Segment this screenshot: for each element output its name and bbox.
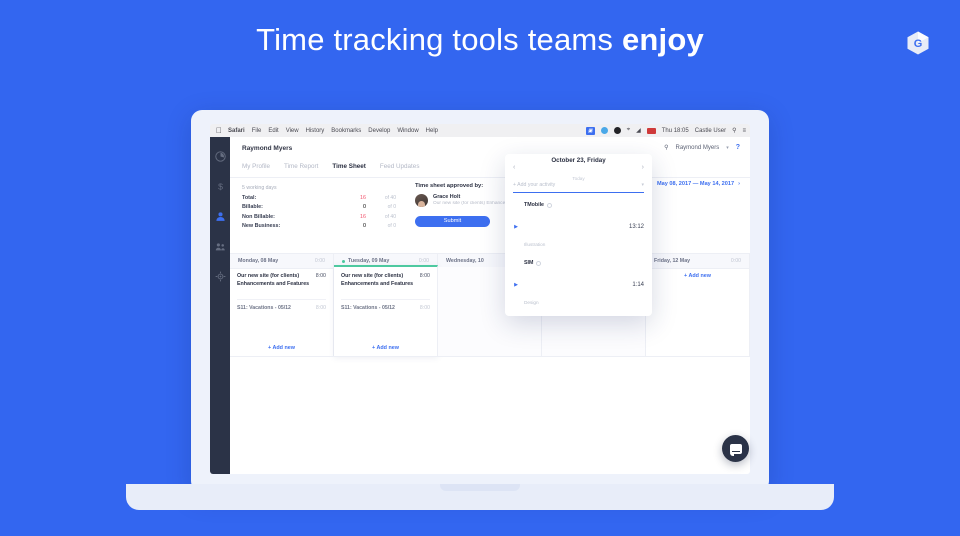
app-window: $ Raymond Myers ⚲ Raymond M: [210, 137, 750, 474]
entry2-hours: 8:00: [420, 305, 430, 311]
entry-title: Our new site (for clients) Enhancements …: [237, 273, 312, 289]
active-day-dot-icon: [342, 260, 345, 263]
summary-of-total: of 40: [366, 195, 396, 201]
day-total-friday: 0:00: [731, 258, 741, 264]
timesheet-entry-secondary[interactable]: S11: Vacations - 05/12 8:00: [230, 300, 333, 311]
menu-item-history[interactable]: History: [306, 128, 325, 134]
day-header-monday[interactable]: Monday, 08 May 0:00: [230, 254, 334, 268]
activity-time: 13:12: [629, 224, 644, 230]
day-column-friday: + Add new: [646, 267, 750, 357]
status-ring-icon: [547, 203, 552, 208]
status-ring-icon: [536, 261, 541, 266]
activity-name: TMobile: [524, 202, 544, 209]
page-user-title: Raymond Myers: [242, 145, 292, 152]
entry-hours: 8:00: [420, 273, 430, 289]
entry-hours: 8:00: [316, 273, 326, 289]
date-range-selector[interactable]: May 08, 2017 — May 14, 2017 ›: [657, 181, 740, 187]
status-keyboard-flag-icon[interactable]: [647, 128, 656, 134]
menu-item-develop[interactable]: Develop: [368, 128, 390, 134]
day-total-tuesday: 0:00: [419, 258, 429, 264]
prev-day-button[interactable]: ‹: [513, 164, 515, 171]
entry2-title: S11: Vacations - 05/12: [341, 305, 395, 311]
apple-logo-icon[interactable]: : [216, 127, 222, 135]
sidebar-item-team-icon[interactable]: [213, 239, 227, 253]
list-item[interactable]: ▶ SIM Design 1:14: [505, 256, 652, 314]
day-name-tuesday: Tuesday, 09 May: [342, 258, 389, 264]
play-icon[interactable]: ▶: [513, 282, 519, 288]
menu-item-safari[interactable]: Safari: [228, 128, 245, 134]
summary-label-total: Total:: [242, 195, 338, 201]
sidebar-item-clock-icon[interactable]: [213, 149, 227, 163]
activity-name: SIM: [524, 260, 533, 267]
add-new-monday[interactable]: + Add new: [230, 345, 333, 351]
headline-light: Time tracking tools teams: [256, 22, 622, 57]
widget-date: October 23, Friday: [551, 157, 605, 164]
chat-bubble-icon[interactable]: [722, 435, 749, 462]
sidebar-item-person-icon[interactable]: [213, 209, 227, 223]
page-title: Time tracking tools teams enjoy: [0, 22, 960, 58]
day-name-tuesday-label: Tuesday, 09 May: [348, 258, 389, 264]
activity-widget: ‹ October 23, Friday Today › + Add your …: [505, 154, 652, 316]
timesheet-entry[interactable]: Our new site (for clients) Enhancements …: [334, 267, 437, 294]
poster-canvas: Time tracking tools teams enjoy G  Safa…: [0, 0, 960, 536]
summary-of-billable: of 0: [366, 204, 396, 210]
chevron-down-icon[interactable]: ▾: [726, 145, 729, 151]
add-activity-placeholder: + Add your activity: [513, 182, 555, 188]
tab-time-sheet[interactable]: Time Sheet: [332, 163, 365, 170]
account-name[interactable]: Raymond Myers: [676, 145, 720, 151]
laptop-notch: [440, 484, 520, 491]
timesheet-entry[interactable]: Our new site (for clients) Enhancements …: [230, 267, 333, 294]
status-clock[interactable]: Thu 18:05: [662, 128, 689, 134]
entry-title: Our new site (for clients) Enhancements …: [341, 273, 416, 289]
list-item[interactable]: ▶ TMobile Illustration 13:12: [505, 198, 652, 256]
menu-item-file[interactable]: File: [252, 128, 262, 134]
summary-of-non-billable: of 40: [366, 214, 396, 220]
chat-bubble-glyph: [730, 444, 742, 454]
tab-my-profile[interactable]: My Profile: [242, 163, 270, 170]
add-new-friday[interactable]: + Add new: [646, 273, 749, 279]
day-column-tuesday: Our new site (for clients) Enhancements …: [334, 265, 438, 357]
sidebar-rail: $: [210, 137, 230, 474]
tab-feed-updates[interactable]: Feed Updates: [380, 163, 420, 170]
headline-bold: enjoy: [622, 22, 704, 57]
help-button[interactable]: ?: [736, 144, 740, 151]
sidebar-item-gear-icon[interactable]: [213, 269, 227, 283]
date-range-label: May 08, 2017 — May 14, 2017: [657, 181, 734, 187]
avatar: [415, 194, 428, 207]
summary-label-non-billable: Non Billable:: [242, 214, 338, 220]
status-notifications-icon[interactable]: ≡: [742, 128, 746, 134]
add-new-tuesday[interactable]: + Add new: [334, 345, 437, 351]
add-activity-chevron-down-icon[interactable]: ▾: [641, 182, 644, 188]
summary-value-non-billable: 16: [338, 214, 366, 220]
svg-text:G: G: [914, 38, 923, 50]
summary-value-new-business: 0: [338, 223, 366, 229]
widget-date-sub: Today: [572, 176, 584, 181]
status-power-icon[interactable]: [614, 127, 621, 134]
activity-meta: TMobile Illustration: [524, 202, 624, 252]
timesheet-entry-secondary[interactable]: S11: Vacations - 05/12 8:00: [334, 300, 437, 311]
day-column-monday: Our new site (for clients) Enhancements …: [230, 267, 334, 357]
activity-name-row: TMobile: [524, 202, 624, 209]
menu-item-edit[interactable]: Edit: [268, 128, 278, 134]
app-top-right: ⚲ Raymond Myers ▾ ?: [664, 144, 740, 151]
status-wifi-icon[interactable]: ◢: [636, 127, 641, 134]
app-tabs: My Profile Time Report Time Sheet Feed U…: [242, 163, 419, 170]
tab-time-report[interactable]: Time Report: [284, 163, 318, 170]
menu-item-window[interactable]: Window: [397, 128, 418, 134]
summary-label-new-business: New Business:: [242, 223, 338, 229]
week-bottom-divider: [230, 356, 750, 357]
status-user[interactable]: Castle User: [695, 128, 726, 134]
sidebar-item-dollar-icon[interactable]: $: [213, 179, 227, 193]
activity-tag: Design: [524, 300, 539, 305]
day-total-monday: 0:00: [315, 258, 325, 264]
summary-of-new-business: of 0: [366, 223, 396, 229]
activity-time: 1:14: [632, 282, 644, 288]
status-search-icon[interactable]: ⚲: [732, 127, 736, 134]
browser-screen:  Safari File Edit View History Bookmark…: [210, 124, 750, 474]
entry2-hours: 8:00: [316, 305, 326, 311]
status-dropbox-icon[interactable]: [601, 127, 608, 134]
header-divider: [230, 177, 750, 178]
menu-item-help[interactable]: Help: [426, 128, 438, 134]
summary-value-billable: 0: [338, 204, 366, 210]
summary-value-total: 16: [338, 195, 366, 201]
activity-meta: SIM Design: [524, 260, 627, 310]
status-screenshare-icon[interactable]: ▣: [586, 127, 595, 135]
status-bluetooth-icon[interactable]: ⌖: [627, 127, 630, 134]
next-day-button[interactable]: ›: [642, 164, 644, 171]
search-icon[interactable]: ⚲: [664, 144, 668, 151]
day-header-friday[interactable]: Friday, 12 May 0:00: [646, 254, 750, 268]
activity-tag: Illustration: [524, 242, 545, 247]
chevron-right-icon[interactable]: ›: [738, 181, 740, 187]
entry2-title: S11: Vacations - 05/12: [237, 305, 291, 311]
svg-text:$: $: [218, 181, 223, 191]
mac-menu-bar:  Safari File Edit View History Bookmark…: [210, 124, 750, 137]
week-body: Our new site (for clients) Enhancements …: [230, 267, 750, 357]
menu-item-bookmarks[interactable]: Bookmarks: [331, 128, 361, 134]
day-name-wednesday: Wednesday, 10: [446, 258, 484, 264]
day-name-friday: Friday, 12 May: [654, 258, 690, 264]
menu-item-view[interactable]: View: [286, 128, 299, 134]
submit-button[interactable]: Submit: [415, 216, 490, 227]
activity-name-row: SIM: [524, 260, 627, 267]
day-name-monday: Monday, 08 May: [238, 258, 278, 264]
activity-list: ▶ TMobile Illustration 13:12 ▶ SIM Desig…: [505, 198, 652, 316]
list-item[interactable]: ▶ Showroom Illustration 2:20: [505, 315, 652, 316]
play-icon[interactable]: ▶: [513, 224, 519, 230]
brand-logo-icon: G: [905, 30, 931, 56]
widget-date-block: October 23, Friday Today: [551, 154, 605, 185]
app-content: Raymond Myers ⚲ Raymond Myers ▾ ? My Pro…: [230, 137, 750, 474]
widget-header: ‹ October 23, Friday Today ›: [505, 154, 652, 180]
summary-label-billable: Billable:: [242, 204, 338, 210]
